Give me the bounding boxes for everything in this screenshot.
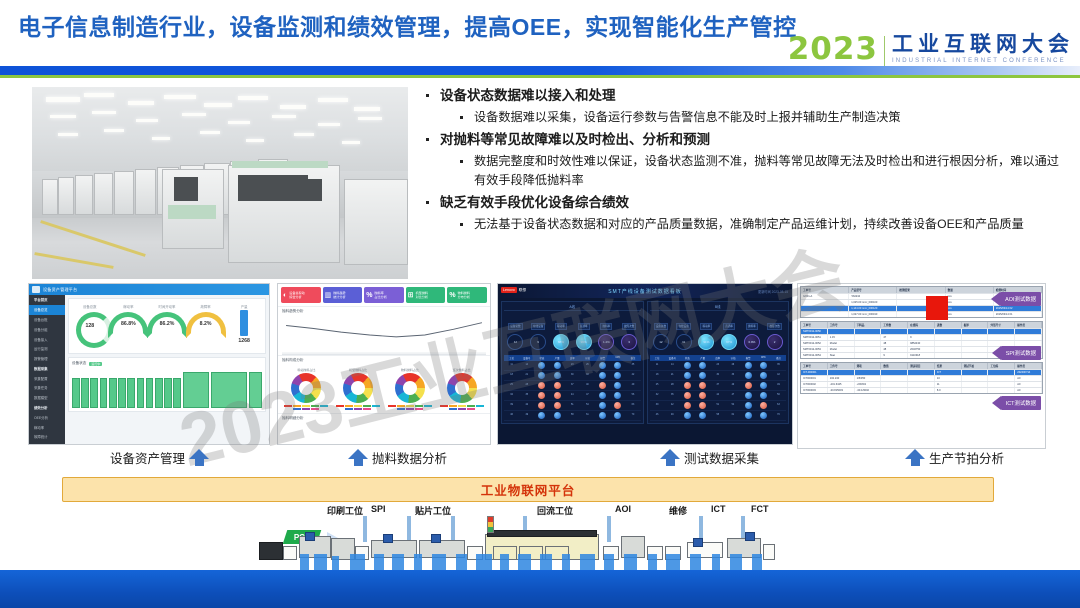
- cell-indicator: [595, 402, 610, 409]
- ceiling-lamp: [280, 105, 306, 109]
- cell-text: 51: [710, 404, 725, 406]
- gauge-caption: 故障率: [188, 304, 224, 309]
- dash4-col-header: 结果: [935, 363, 962, 369]
- metric-value: 97%: [721, 334, 737, 350]
- dash3-col-header: 工位: [504, 355, 519, 361]
- donut-chart: [395, 373, 425, 403]
- dash2-section-2: 抛料构成分析: [278, 355, 490, 365]
- cell-text: 40: [725, 384, 740, 386]
- legend-swatch: [320, 405, 328, 407]
- dash4-col-header: 数值: [881, 363, 908, 369]
- cell-text: 23: [565, 364, 580, 366]
- up-arrow-icon: [348, 449, 368, 467]
- dash2-kpi-card[interactable]: ⊞机型抛料对比分析: [406, 287, 446, 303]
- arrow-label-text: 设备资产管理: [110, 448, 185, 467]
- equipment-block: [249, 372, 262, 408]
- dash1-menu-item[interactable]: 数据采集: [29, 363, 65, 373]
- dash4-col-header: 检测结果: [897, 287, 945, 293]
- dash4-table[interactable]: 工单号工件号测项数值测试项目结果测试节拍工位码操作员ICT-000001 ICT…: [800, 362, 1043, 394]
- cell-text: 30: [565, 374, 580, 376]
- tower-light-icon: [487, 516, 494, 533]
- iot-platform-band: 工业物联网平台: [62, 477, 994, 502]
- metric-value: 12: [507, 334, 523, 350]
- station-label: FCT: [751, 504, 769, 514]
- line-support-post: [607, 516, 611, 542]
- legend-swatch: [345, 405, 353, 407]
- cell-indicator: [741, 362, 756, 369]
- dash4-cell: [962, 382, 989, 387]
- cell-indicator: [756, 362, 771, 369]
- dash1-menu-item[interactable]: 采集配置: [29, 373, 65, 383]
- dash4-cell: [801, 306, 849, 311]
- dash4-cell: [881, 382, 908, 387]
- cell-text: 25: [504, 384, 519, 386]
- skyline-building: [624, 554, 637, 570]
- chart-icon: ⊞: [408, 291, 414, 299]
- cell-text: 35: [519, 394, 534, 396]
- dash1-menu-item[interactable]: OEE分析: [29, 412, 65, 422]
- dash3-table-row: 1821303342: [650, 371, 787, 381]
- legend-swatch: [415, 405, 423, 407]
- cell-text: 63: [625, 404, 640, 406]
- ceiling-lamp: [294, 133, 314, 136]
- cell-text: 56: [771, 394, 786, 396]
- equipment-bar: [173, 378, 181, 408]
- arrow-label-item: 生产节拍分析: [905, 448, 1004, 467]
- dash4-cell: [908, 370, 935, 375]
- dash1-sidebar[interactable]: 平台首页设备总览设备台账设备分组设备接入运行监测报警管理数据采集采集配置采集任务…: [29, 295, 65, 444]
- cell-indicator: [741, 382, 756, 389]
- dash1-menu-item[interactable]: 采集任务: [29, 383, 65, 393]
- cell-indicator: [550, 382, 565, 389]
- donut-chart: [343, 373, 373, 403]
- dash4-cell: [855, 335, 882, 340]
- dash4-col-header: 进数: [935, 322, 962, 328]
- dash1-menu-item[interactable]: 运行监测: [29, 344, 65, 354]
- dash4-callout: SPI测试数据: [992, 346, 1041, 360]
- dash4-table-row[interactable]: SMT0012-00511.15 479: [801, 334, 1042, 340]
- dash4-cell: Model: [828, 341, 855, 346]
- ceiling-lamp: [50, 115, 76, 118]
- dash4-cell: [935, 341, 962, 346]
- logo-year: 2023: [788, 34, 878, 65]
- pane-title: A线: [504, 304, 641, 311]
- legend-swatch: [449, 405, 457, 407]
- arrow-label-item: 设备资产管理: [110, 448, 209, 467]
- cell-text: 35: [771, 364, 786, 366]
- cell-text: 30: [710, 374, 725, 376]
- dash2-line-chart: [282, 316, 486, 355]
- cell-text: 33: [725, 374, 740, 376]
- callout-arrow-icon: [992, 346, 1001, 360]
- dash4-cell: A0: [1015, 382, 1042, 387]
- dash4-cell: 2046750: [908, 347, 935, 352]
- cell-text: 46: [650, 414, 665, 416]
- metric-label: 设备总数: [508, 323, 522, 330]
- dashboard-test-data[interactable]: Lenovo 联想 SMT产线设备测试数据看板 更新时间 2023-08-15 …: [497, 283, 793, 445]
- dash4-cell: 10: [935, 376, 962, 381]
- dash2-kpi-card[interactable]: ▥抛料趋势统计分析: [323, 287, 363, 303]
- skyline-building: [300, 554, 309, 570]
- dash1-gauge: 稼动率86.8%: [111, 304, 147, 350]
- machine-panel: [232, 161, 328, 168]
- ceiling-lamp: [152, 137, 170, 140]
- dash2-donut: 物料抛料占比: [386, 368, 435, 410]
- equipment-bar: [100, 378, 108, 408]
- smt-machine: [42, 179, 58, 215]
- dash1-body: 设备总数128稼动率86.8%时间开动率86.2%故障率8.2%产量1268 设…: [65, 295, 269, 444]
- dash4-cell: 48: [881, 341, 908, 346]
- equipment-bar: [146, 378, 154, 408]
- gauge-ring: [76, 312, 112, 348]
- line-machine: [693, 538, 703, 547]
- up-arrow-icon: [189, 449, 209, 467]
- dashboard-asset-management[interactable]: 设备资产管理平台 平台首页设备总览设备台账设备分组设备接入运行监测报警管理数据采…: [28, 283, 270, 445]
- line-support-post: [407, 516, 411, 542]
- machine-screen: [296, 179, 322, 201]
- dash3-col-header: 产量: [695, 355, 710, 361]
- dash3-col-header: 备注: [771, 355, 786, 361]
- gauge-caption: 时间开动率: [149, 304, 185, 309]
- cell-indicator: [695, 362, 710, 369]
- dash3-col-header: 工位: [650, 355, 665, 361]
- callout-label: AOI测试数据: [1000, 292, 1041, 306]
- dash3-table-row: 3942515463: [504, 401, 641, 411]
- cell-indicator: [610, 392, 625, 399]
- donut-legend: [437, 405, 486, 410]
- legend-swatch: [458, 405, 466, 407]
- metric-value: 91%: [698, 334, 714, 350]
- ceiling-lamp: [136, 119, 158, 122]
- dash2-kpi-cards[interactable]: ◐设备总稼动综合分析▥抛料趋势统计分析%抛料率占比分析⊞机型抛料对比分析%物料抛…: [278, 284, 490, 306]
- cell-text: 37: [710, 384, 725, 386]
- dash3-title: SMT产线设备测试数据看板: [608, 288, 682, 295]
- donut-title: 料站抛料占比: [282, 368, 331, 372]
- legend-swatch: [302, 408, 310, 410]
- station-label: AOI: [615, 504, 631, 514]
- legend-swatch: [311, 408, 319, 410]
- dash3-col-header: 产量: [550, 355, 565, 361]
- callout-label: ICT测试数据: [1001, 396, 1041, 410]
- cell-text: 49: [665, 414, 680, 416]
- dash3-metric: 抛料率1.2%: [598, 314, 614, 350]
- metric-value: 9: [530, 334, 546, 350]
- dash3-col-header: CPK: [610, 355, 625, 361]
- ceiling-lamp: [228, 121, 250, 124]
- cell-indicator: [741, 402, 756, 409]
- ceiling-lamp: [46, 97, 80, 102]
- dash4-table-row[interactable]: ICT000001102.2401/5/350 10 A0: [801, 375, 1042, 381]
- cell-text: 39: [650, 404, 665, 406]
- legend-swatch: [345, 408, 353, 410]
- dash3-table-row: 1114232635: [650, 361, 787, 371]
- dash2-kpi-card[interactable]: ◐设备总稼动综合分析: [281, 287, 321, 303]
- metric-label: 稼动率: [700, 323, 712, 330]
- gauge-value: 8.2%: [188, 321, 224, 327]
- dash3-col-header: 设备号: [519, 355, 534, 361]
- dash4-cell: 2015/03/14 01: [994, 312, 1042, 317]
- dash4-cell: [881, 376, 908, 381]
- metric-value: 3: [621, 334, 637, 350]
- dash4-col-header: 在线码: [908, 322, 935, 328]
- cell-indicator: [534, 362, 549, 369]
- dash1-title: 设备资产管理平台: [43, 287, 77, 293]
- dash4-cell: [962, 370, 989, 375]
- smt-machine: [58, 177, 74, 215]
- line-support-post: [451, 516, 455, 542]
- dash4-cell: SMT0012-0052: [801, 341, 828, 346]
- cell-indicator: [550, 392, 565, 399]
- skyline-building: [518, 554, 531, 570]
- dash2-kpi-card[interactable]: %物料抛料分布分析: [447, 287, 487, 303]
- dash4-cell: [962, 341, 989, 346]
- equipment-bar: [164, 378, 172, 408]
- dash1-menu-item[interactable]: 设备总览: [29, 305, 65, 315]
- ceiling-lamp: [200, 131, 220, 134]
- arrow-label-text: 抛料数据分析: [372, 448, 447, 467]
- dash1-menu-item[interactable]: 平台首页: [29, 295, 65, 305]
- cell-text: 23: [710, 364, 725, 366]
- cell-text: 58: [710, 414, 725, 416]
- dash4-col-header: 操作员: [1015, 363, 1042, 369]
- dash1-menu-item[interactable]: 设备接入: [29, 334, 65, 344]
- dash3-col-header: 节拍: [725, 355, 740, 361]
- dash1-menu-item[interactable]: 维保管理: [29, 442, 65, 445]
- dash2-kpi-card[interactable]: %抛料率占比分析: [364, 287, 404, 303]
- cell-text: 18: [650, 374, 665, 376]
- dash4-cell: SMT0012-0054: [801, 353, 828, 358]
- skyline-building: [350, 554, 365, 570]
- line-support-post: [363, 516, 367, 542]
- smt-machine: [75, 175, 93, 215]
- logo-title-en: INDUSTRIAL INTERNET CONFERENCE: [892, 58, 1074, 64]
- dash3-metric: 故障次数2: [767, 314, 783, 350]
- dash1-menu-item[interactable]: 数据模型: [29, 393, 65, 403]
- gauge-value: 86.2%: [149, 321, 185, 327]
- dashboard-cycle-time[interactable]: 工单号产品型号检测结果数量检测时间GX01-ATA0234 pcs2024/07…: [797, 283, 1046, 449]
- dash3-pane: A线设备总数12在线设备9稼动率88%直通率96%抛料率1.2%故障次数3工位设…: [501, 301, 644, 424]
- ceiling-lamp: [342, 141, 360, 144]
- dash4-table-row[interactable]: 1,027.00 mm²_000190 pcs2015/03/14 01: [801, 311, 1042, 317]
- dash2-donut: 机型抛料占比: [334, 368, 383, 410]
- ceiling-lamp: [84, 93, 114, 97]
- dash4-table-row[interactable]: ICT000002-201.6425-2/645/2 11 A0: [801, 381, 1042, 387]
- gauge-icon: ◐: [283, 292, 287, 299]
- dash4-cell: [962, 376, 989, 381]
- ceiling-lamp: [58, 133, 78, 136]
- cell-text: 56: [625, 394, 640, 396]
- dash3-metric: 在线设备9: [530, 314, 546, 350]
- dash4-cell: [801, 312, 849, 317]
- dash4-cell: 2015/03/14 02: [994, 306, 1042, 311]
- dash3-col-header: 报警: [741, 355, 756, 361]
- metric-label: 设备总数: [654, 323, 668, 330]
- dash4-cell: [1015, 335, 1042, 340]
- legend-swatch: [302, 405, 310, 407]
- bullet-l1: 设备状态数据难以接入和处理: [418, 86, 1068, 106]
- dash1-menu-item[interactable]: 故障统计: [29, 432, 65, 442]
- dash4-cell: [908, 376, 935, 381]
- cell-text: 49: [519, 414, 534, 416]
- dash3-table-row: 1114232635: [504, 361, 641, 371]
- skyline-building: [604, 554, 614, 570]
- gauge-value: 86.8%: [111, 321, 147, 327]
- cell-text: 35: [665, 394, 680, 396]
- dash4-cell: ICT000003: [801, 388, 828, 393]
- cell-indicator: [741, 412, 756, 419]
- dash3-table-row: 1821303342: [504, 371, 641, 381]
- cell-indicator: [695, 412, 710, 419]
- cell-indicator: [695, 392, 710, 399]
- callout-label: SPI测试数据: [1001, 346, 1041, 360]
- dash4-cell: SMT0012-0050: [801, 329, 828, 334]
- dash4-table-row[interactable]: ICT000003-30.815003-30.1/6002 8.0 A0: [801, 387, 1042, 393]
- arrow-label-item: 测试数据采集: [660, 448, 759, 467]
- ceiling-lamp: [128, 101, 154, 105]
- cell-text: 70: [625, 414, 640, 416]
- cell-indicator: [756, 402, 771, 409]
- dash4-cell: SMT0012-0053: [801, 347, 828, 352]
- dash4-table-row[interactable]: ICT-000001 ICT 2024/07/14: [801, 369, 1042, 375]
- title-divider-green: [0, 75, 1080, 78]
- cell-indicator: [741, 372, 756, 379]
- ceiling-lamp: [358, 117, 382, 120]
- donut-title: 物料抛料占比: [386, 368, 435, 372]
- dash4-table-row[interactable]: SMT0012-0050: [801, 328, 1042, 334]
- gauge-caption: 产量: [226, 304, 262, 309]
- ceiling-lamp: [182, 113, 206, 116]
- legend-swatch: [440, 405, 448, 407]
- dash1-gauges: 设备总数128稼动率86.8%时间开动率86.2%故障率8.2%产量1268: [72, 302, 262, 350]
- dash4-cell: pcs: [946, 312, 994, 317]
- ceiling-lamp: [238, 96, 268, 100]
- dash4-cell: ICT000001: [801, 376, 828, 381]
- dash3-col-header: 节拍: [580, 355, 595, 361]
- dash3-metric: 直通率96%: [576, 314, 592, 350]
- skyline-building: [332, 556, 339, 570]
- dash4-cell: 2024/07/14: [1015, 370, 1042, 375]
- dash4-cell: [881, 329, 908, 334]
- metric-label: 抛料率: [746, 323, 758, 330]
- cell-indicator: [595, 392, 610, 399]
- dash4-col-header: 板厚: [962, 322, 989, 328]
- dash4-cell: [988, 335, 1015, 340]
- dash3-col-header: 良率: [710, 355, 725, 361]
- cell-indicator: [695, 372, 710, 379]
- cell-indicator: [595, 362, 610, 369]
- bars-icon: ▥: [325, 291, 332, 299]
- cell-indicator: [595, 382, 610, 389]
- donut-legend: [334, 405, 383, 410]
- dash4-cell: [935, 347, 962, 352]
- bullet-l2: 无法基于设备状态数据和对应的产品质量数据，准确制定产品运维计划，持续改善设备OE…: [418, 215, 1068, 234]
- dash2-section-3: 抛料明细分析: [278, 413, 490, 423]
- cell-indicator: [756, 372, 771, 379]
- dash1-section-badge: 运行中: [89, 362, 102, 366]
- dash4-col-header: 工单号: [801, 287, 849, 293]
- bullet-l2: 设备数据难以采集，设备运行参数与告警信息不能及时上报并辅助生产制造决策: [418, 108, 1068, 127]
- dash3-metric: 故障次数3: [621, 314, 637, 350]
- line-machine: [305, 532, 315, 541]
- cell-text: 44: [565, 394, 580, 396]
- cell-text: 14: [665, 364, 680, 366]
- dash4-cell: [881, 388, 908, 393]
- dash2-kpi-label: 抛料趋势统计分析: [333, 291, 345, 299]
- ceiling-lamp: [354, 107, 380, 111]
- cell-indicator: [550, 412, 565, 419]
- dash3-table-row: 3942515463: [650, 401, 787, 411]
- dash4-cell: Model: [828, 347, 855, 352]
- cell-text: 11: [650, 364, 665, 366]
- cell-indicator: [534, 402, 549, 409]
- arrow-label-row: 设备资产管理抛料数据分析测试数据采集生产节拍分析: [0, 446, 1080, 474]
- dash3-table-row: 4649586170: [650, 411, 787, 421]
- cell-text: 25: [650, 384, 665, 386]
- dash4-cell: [855, 329, 882, 334]
- dash4-col-header: 工件数: [881, 322, 908, 328]
- dash4-cell: [855, 370, 882, 375]
- dash4-col-header: 工位码: [988, 363, 1015, 369]
- dash3-metric: 设备总数12: [653, 314, 669, 350]
- dash3-table-row: 2528374049: [504, 381, 641, 391]
- dash4-col-header: 测项: [855, 363, 882, 369]
- dash1-menu-item[interactable]: 稼动率: [29, 422, 65, 432]
- donut-chart: [291, 373, 321, 403]
- cell-indicator: [741, 392, 756, 399]
- cell-indicator: [695, 402, 710, 409]
- cell-text: 21: [665, 374, 680, 376]
- legend-swatch: [363, 405, 371, 407]
- equipment-bar: [109, 378, 117, 408]
- dash1-menu-item[interactable]: 绩效分析: [29, 403, 65, 413]
- legend-swatch: [397, 405, 405, 407]
- machine-screen: [174, 177, 198, 201]
- cell-text: 37: [565, 384, 580, 386]
- cell-text: 49: [771, 384, 786, 386]
- cell-indicator: [756, 392, 771, 399]
- metric-label: 在线设备: [676, 323, 690, 330]
- pane-metrics: 设备总数12在线设备11稼动率91%直通率97%抛料率0.9%故障次数2: [650, 311, 787, 353]
- metric-value: 88%: [553, 334, 569, 350]
- cell-text: 21: [519, 374, 534, 376]
- cell-text: 47: [725, 394, 740, 396]
- station-label: 印刷工位: [327, 504, 363, 517]
- dash4-cell: -201.6425: [828, 382, 855, 387]
- cell-text: 54: [725, 404, 740, 406]
- donut-legend: [282, 405, 331, 410]
- dash1-menu-item[interactable]: 设备分组: [29, 324, 65, 334]
- dash4-callout: ICT测试数据: [992, 396, 1041, 410]
- dash3-col-header: 良率: [565, 355, 580, 361]
- legend-swatch: [311, 405, 319, 407]
- skyline-building: [432, 554, 446, 570]
- dash1-menu-item[interactable]: 报警管理: [29, 354, 65, 364]
- cell-text: 70: [771, 414, 786, 416]
- dashboard-scrap-analysis[interactable]: ◐设备总稼动综合分析▥抛料趋势统计分析%抛料率占比分析⊞机型抛料对比分析%物料抛…: [277, 283, 491, 445]
- equipment-block: [183, 372, 210, 408]
- dash1-logo-icon: [32, 286, 40, 293]
- ceiling-lamp: [92, 111, 116, 114]
- bullet-l2: 数据完整度和时效性难以保证，设备状态监测不准，抛料等常见故障无法及时检出和进行根…: [418, 152, 1068, 190]
- dash4-cell: 1/5/350: [855, 376, 882, 381]
- dash4-cell: 9110318: [908, 353, 935, 358]
- dash4-cell: 1,027.00 mm²_000190: [849, 312, 897, 317]
- dash1-menu-item[interactable]: 设备台账: [29, 315, 65, 325]
- dash4-callout: AOI测试数据: [991, 292, 1041, 306]
- legend-swatch: [284, 405, 292, 407]
- line-machine: [431, 534, 441, 543]
- dash2-section-1: 抛料趋势分析: [278, 306, 490, 316]
